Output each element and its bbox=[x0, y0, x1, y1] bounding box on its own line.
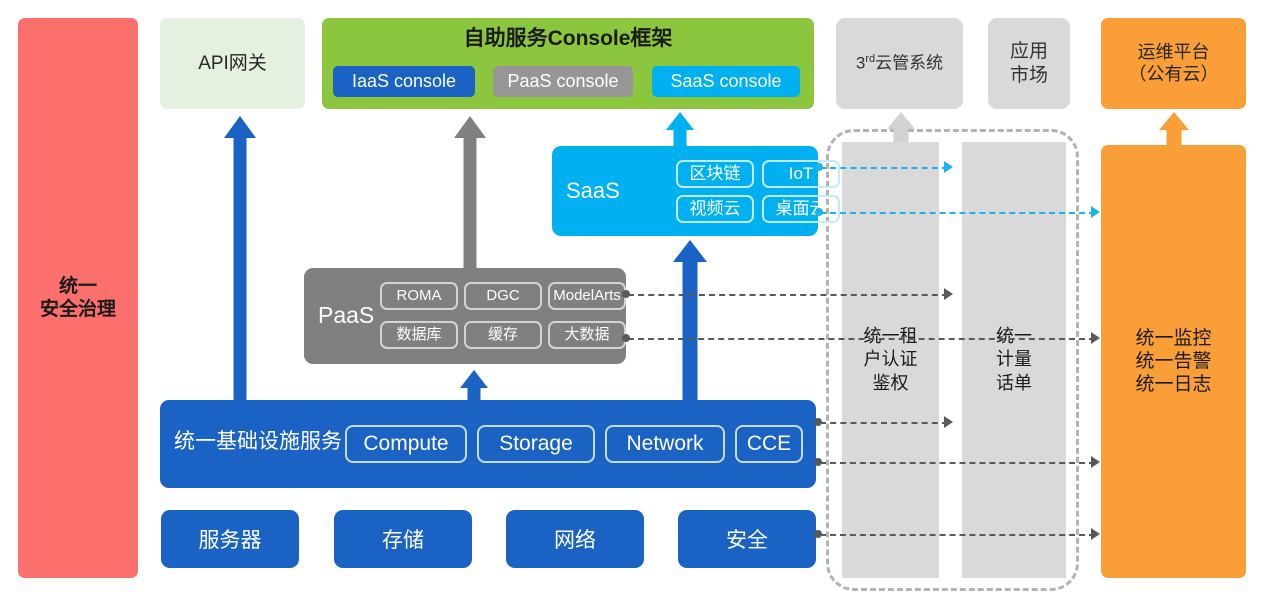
infra-service-compute[interactable]: Compute bbox=[345, 425, 467, 463]
arrow-infra-to-paas bbox=[458, 370, 490, 402]
dash-arrowhead-saas-to-auth bbox=[944, 161, 953, 173]
metering-line-1: 统一 bbox=[996, 325, 1032, 348]
saas-console-chip[interactable]: SaaS console bbox=[652, 66, 800, 97]
metering-line-3: 话单 bbox=[996, 372, 1032, 395]
dash-arrowhead-saas-to-ops bbox=[1091, 206, 1100, 218]
dash-arrowhead-hardware-to-ops bbox=[1091, 528, 1100, 540]
hardware-security-label: 安全 bbox=[726, 524, 768, 554]
dash-arrowhead-paas-to-auth bbox=[944, 288, 953, 300]
app-market-line-2: 市场 bbox=[1010, 64, 1048, 87]
tenant-auth-line-1: 统一租 bbox=[864, 325, 918, 348]
ops-platform-public-cloud-box: 运维平台 （公有云） bbox=[1101, 18, 1246, 109]
saas-service-iot[interactable]: IoT bbox=[762, 160, 840, 188]
ops-pillar-label: 统一监控 统一告警 统一日志 bbox=[1135, 327, 1211, 397]
hardware-storage-label: 存储 bbox=[382, 524, 424, 554]
saas-service-blockchain[interactable]: 区块链 bbox=[676, 160, 754, 188]
ops-platform-line-2: （公有云） bbox=[1129, 64, 1219, 86]
paas-layer-block: PaaS ROMA DGC ModelArts 数据库 缓存 大数据 bbox=[304, 268, 626, 364]
dash-line-saas-to-ops bbox=[820, 212, 1095, 214]
console-framework-title: 自助服务Console框架 bbox=[322, 26, 814, 52]
tenant-auth-label: 统一租 户认证 鉴权 bbox=[864, 325, 918, 394]
third-party-cloud-management-box: 3rd云管系统 bbox=[836, 18, 963, 109]
unified-monitoring-alarm-log-pillar: 统一监控 统一告警 统一日志 bbox=[1101, 145, 1246, 578]
iaas-console-label: IaaS console bbox=[352, 71, 456, 93]
iaas-console-chip[interactable]: IaaS console bbox=[333, 66, 475, 97]
infra-service-storage-label: Storage bbox=[499, 431, 573, 457]
paas-service-cache-label: 缓存 bbox=[488, 326, 518, 344]
metering-billing-label: 统一 计量 话单 bbox=[996, 325, 1032, 394]
governance-line-1: 统一 bbox=[40, 275, 116, 298]
paas-service-database[interactable]: 数据库 bbox=[380, 321, 458, 349]
infra-service-network[interactable]: Network bbox=[605, 425, 725, 463]
hardware-box-network[interactable]: 网络 bbox=[506, 510, 644, 568]
paas-layer-label: PaaS bbox=[318, 301, 374, 329]
arrow-infra-to-saas bbox=[673, 240, 707, 402]
paas-service-dgc-label: DGC bbox=[486, 287, 519, 305]
ops-pillar-line-3: 统一日志 bbox=[1135, 373, 1211, 396]
arrow-shared-to-third-party-cloud bbox=[885, 112, 917, 142]
paas-service-cache[interactable]: 缓存 bbox=[464, 321, 542, 349]
infra-service-network-label: Network bbox=[626, 431, 703, 457]
hardware-box-storage[interactable]: 存储 bbox=[334, 510, 472, 568]
hardware-box-security[interactable]: 安全 bbox=[678, 510, 816, 568]
api-gateway-label: API网关 bbox=[198, 52, 267, 75]
dash-line-infra-to-auth bbox=[820, 422, 948, 424]
dash-line-hardware-to-ops bbox=[820, 534, 1095, 536]
paas-service-roma[interactable]: ROMA bbox=[380, 282, 458, 310]
tenant-auth-line-3: 鉴权 bbox=[864, 372, 918, 395]
hardware-server-label: 服务器 bbox=[199, 524, 262, 554]
saas-service-blockchain-label: 区块链 bbox=[690, 164, 741, 185]
paas-service-modelarts[interactable]: ModelArts bbox=[548, 282, 626, 310]
third-party-prefix: 3 bbox=[856, 53, 865, 72]
saas-service-desktop-cloud[interactable]: 桌面云 bbox=[762, 195, 840, 223]
unified-infrastructure-service-bar: 统一基础设施服务 Compute Storage Network CCE bbox=[160, 400, 816, 488]
paas-service-dgc[interactable]: DGC bbox=[464, 282, 542, 310]
dash-line-paas-to-ops bbox=[628, 338, 1095, 340]
paas-service-bigdata[interactable]: 大数据 bbox=[548, 321, 626, 349]
api-gateway-box: API网关 bbox=[160, 18, 305, 109]
infra-service-cce-label: CCE bbox=[747, 431, 791, 457]
app-market-line-1: 应用 bbox=[1010, 40, 1048, 63]
saas-service-video-cloud[interactable]: 视频云 bbox=[676, 195, 754, 223]
saas-service-iot-label: IoT bbox=[789, 164, 814, 185]
arrow-infra-to-api-gateway bbox=[224, 116, 256, 400]
third-party-label: 3rd云管系统 bbox=[856, 53, 943, 74]
infra-service-storage[interactable]: Storage bbox=[477, 425, 595, 463]
saas-console-label: SaaS console bbox=[670, 71, 781, 93]
governance-pillar-label: 统一 安全治理 bbox=[40, 275, 116, 321]
dash-arrowhead-paas-to-ops bbox=[1091, 332, 1100, 344]
dash-line-infra-to-ops bbox=[820, 462, 1095, 464]
ops-platform-line-1: 运维平台 bbox=[1129, 42, 1219, 64]
third-party-suffix: 云管系统 bbox=[875, 53, 943, 72]
tenant-auth-line-2: 户认证 bbox=[864, 348, 918, 371]
paas-service-bigdata-label: 大数据 bbox=[564, 326, 609, 344]
dash-line-saas-to-auth bbox=[820, 167, 948, 169]
infra-service-cce[interactable]: CCE bbox=[735, 425, 803, 463]
infra-service-compute-label: Compute bbox=[363, 431, 448, 457]
metering-line-2: 计量 bbox=[996, 348, 1032, 371]
saas-service-video-cloud-label: 视频云 bbox=[690, 199, 741, 220]
infrastructure-label: 统一基础设施服务 bbox=[174, 429, 342, 455]
saas-layer-block: SaaS 区块链 IoT 视频云 桌面云 bbox=[552, 146, 818, 236]
paas-service-database-label: 数据库 bbox=[396, 326, 441, 344]
ops-platform-label: 运维平台 （公有云） bbox=[1129, 42, 1219, 86]
hardware-network-label: 网络 bbox=[554, 524, 596, 554]
saas-layer-label: SaaS bbox=[566, 178, 620, 205]
app-market-label: 应用 市场 bbox=[1010, 40, 1048, 86]
paas-console-chip[interactable]: PaaS console bbox=[493, 66, 633, 97]
governance-line-2: 安全治理 bbox=[40, 298, 116, 321]
paas-service-roma-label: ROMA bbox=[397, 287, 442, 305]
architecture-diagram-canvas: 统一 安全治理 API网关 自助服务Console框架 IaaS console… bbox=[0, 0, 1265, 605]
arrow-saas-to-console bbox=[664, 112, 696, 146]
arrow-paas-to-console bbox=[454, 116, 486, 268]
hardware-box-server[interactable]: 服务器 bbox=[161, 510, 299, 568]
arrow-ops-pillar-to-ops-platform bbox=[1158, 112, 1190, 146]
application-market-box: 应用 市场 bbox=[988, 18, 1070, 109]
third-party-superscript: rd bbox=[865, 53, 875, 65]
self-service-console-framework: 自助服务Console框架 IaaS console PaaS console … bbox=[322, 18, 814, 109]
unified-security-governance-pillar: 统一 安全治理 bbox=[18, 18, 138, 578]
dash-arrowhead-infra-to-auth bbox=[944, 416, 953, 428]
dash-arrowhead-infra-to-ops bbox=[1091, 456, 1100, 468]
ops-pillar-line-2: 统一告警 bbox=[1135, 350, 1211, 373]
paas-console-label: PaaS console bbox=[507, 71, 618, 93]
tenant-auth-column: 统一租 户认证 鉴权 bbox=[842, 142, 939, 578]
paas-service-modelarts-label: ModelArts bbox=[553, 287, 621, 305]
dash-line-paas-to-auth bbox=[628, 294, 948, 296]
metering-billing-column: 统一 计量 话单 bbox=[962, 142, 1066, 578]
ops-pillar-line-1: 统一监控 bbox=[1135, 327, 1211, 350]
